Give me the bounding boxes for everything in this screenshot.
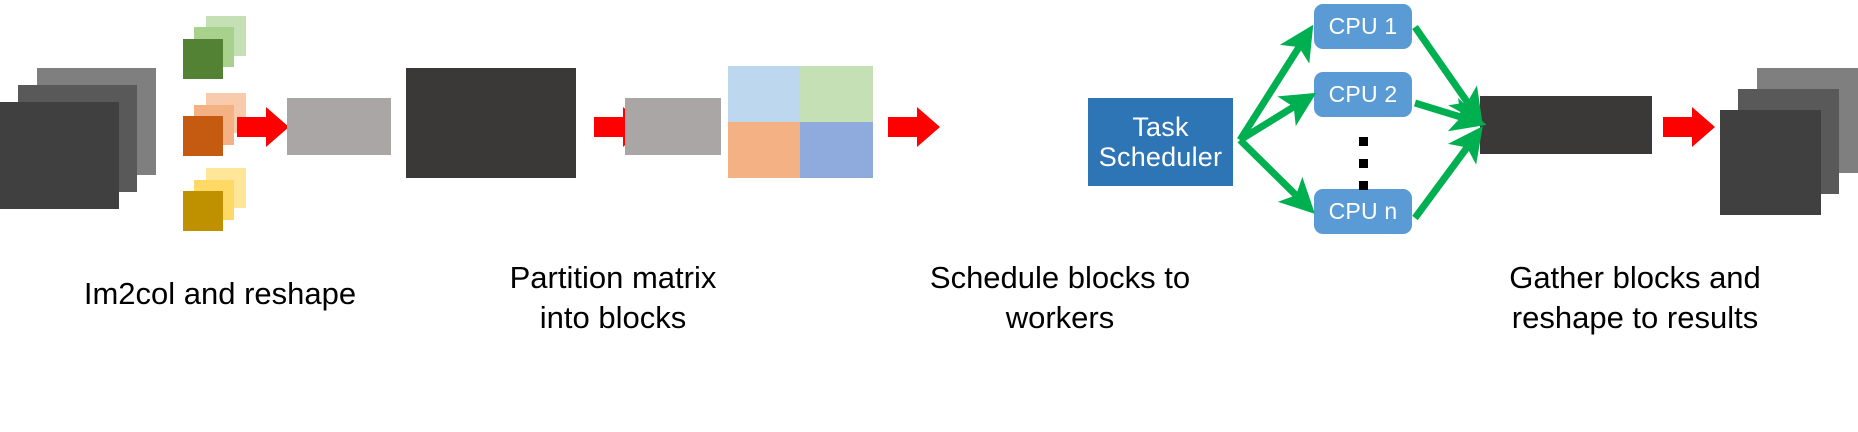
green-arrow-cpu1-to-result: [1415, 27, 1477, 116]
reshaped-row-vector-2: [625, 98, 721, 155]
diagram-canvas: Task Scheduler CPU 1 CPU 2 CPU n: [0, 0, 1858, 432]
worker-cpu-2-label: CPU 2: [1329, 81, 1398, 108]
patch-green-dark: [183, 39, 223, 79]
task-scheduler-box[interactable]: Task Scheduler: [1088, 98, 1233, 186]
im2col-matrix: [406, 68, 576, 178]
gathered-result-matrix: [1480, 96, 1652, 154]
caption-gather: Gather blocks and reshape to results: [1415, 258, 1855, 337]
caption-im2col: Im2col and reshape: [20, 274, 420, 314]
partitioned-block-matrix: [728, 66, 873, 178]
worker-cpu-2[interactable]: CPU 2: [1314, 72, 1412, 117]
green-arrow-cpu2-to-result: [1415, 103, 1477, 122]
output-feature-map-front: [1720, 110, 1821, 215]
block-top-left: [728, 66, 800, 122]
input-feature-map-front: [0, 102, 119, 209]
block-bottom-right: [800, 122, 873, 178]
worker-cpu-1-label: CPU 1: [1329, 13, 1398, 40]
worker-ellipsis-icon: [1359, 137, 1368, 203]
task-scheduler-line1: Task: [1132, 112, 1188, 142]
block-top-right: [800, 66, 873, 122]
block-bottom-left: [728, 122, 800, 178]
caption-partition: Partition matrix into blocks: [398, 258, 828, 337]
green-arrow-sched-to-cpu1: [1240, 33, 1308, 140]
green-arrow-sched-to-cpun: [1240, 140, 1308, 207]
patch-yellow-dark: [183, 191, 223, 231]
red-arrow-1: [237, 107, 289, 147]
green-arrow-layer: [0, 0, 1858, 432]
task-scheduler-line2: Scheduler: [1099, 142, 1222, 172]
green-arrow-cpun-to-result: [1415, 134, 1477, 218]
caption-schedule: Schedule blocks to workers: [830, 258, 1290, 337]
worker-cpu-1[interactable]: CPU 1: [1314, 4, 1412, 49]
green-arrow-sched-to-cpu2: [1240, 98, 1308, 140]
reshaped-row-vector-1: [287, 98, 391, 155]
patch-orange-dark: [183, 116, 223, 156]
red-arrow-4: [1663, 107, 1715, 147]
red-arrow-3: [888, 107, 940, 147]
